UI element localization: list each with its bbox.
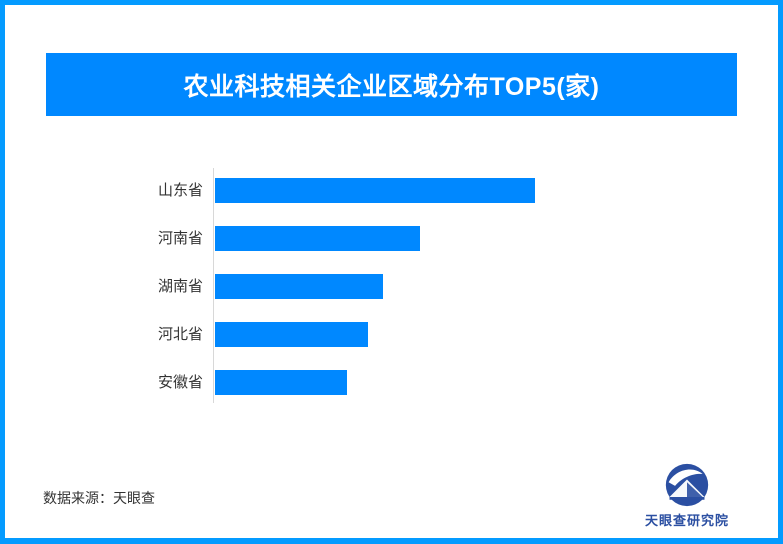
brand-wordmark: 天眼查研究院 bbox=[645, 510, 729, 529]
infographic-canvas: 农业科技相关企业区域分布TOP5(家) 山东省河南省湖南省河北省安徽省 数据来源… bbox=[0, 0, 783, 544]
frame-border-bottom bbox=[0, 538, 783, 544]
bar-category-label: 河南省 bbox=[60, 226, 203, 251]
bar-chart: 山东省河南省湖南省河北省安徽省 bbox=[0, 160, 783, 410]
page-title: 农业科技相关企业区域分布TOP5(家) bbox=[184, 67, 600, 103]
bar-category-label: 安徽省 bbox=[60, 370, 203, 395]
bar-row: 安徽省 bbox=[0, 370, 783, 395]
bar-value bbox=[215, 226, 420, 251]
title-banner: 农业科技相关企业区域分布TOP5(家) bbox=[46, 53, 737, 116]
bar-value bbox=[215, 178, 535, 203]
bar-row: 河北省 bbox=[0, 322, 783, 347]
bar-category-label: 河北省 bbox=[60, 322, 203, 347]
bar-category-label: 湖南省 bbox=[60, 274, 203, 299]
data-source-note: 数据来源：天眼查 bbox=[43, 488, 155, 508]
bar-value bbox=[215, 370, 347, 395]
tianyancha-eye-mountain-logo-icon bbox=[664, 462, 710, 508]
bar-value bbox=[215, 322, 368, 347]
bar-row: 湖南省 bbox=[0, 274, 783, 299]
brand-logo: 天眼查研究院 bbox=[623, 462, 751, 532]
bar-row: 山东省 bbox=[0, 178, 783, 203]
frame-border-top bbox=[0, 0, 783, 5]
bar-value bbox=[215, 274, 383, 299]
bar-row: 河南省 bbox=[0, 226, 783, 251]
bar-category-label: 山东省 bbox=[60, 178, 203, 203]
